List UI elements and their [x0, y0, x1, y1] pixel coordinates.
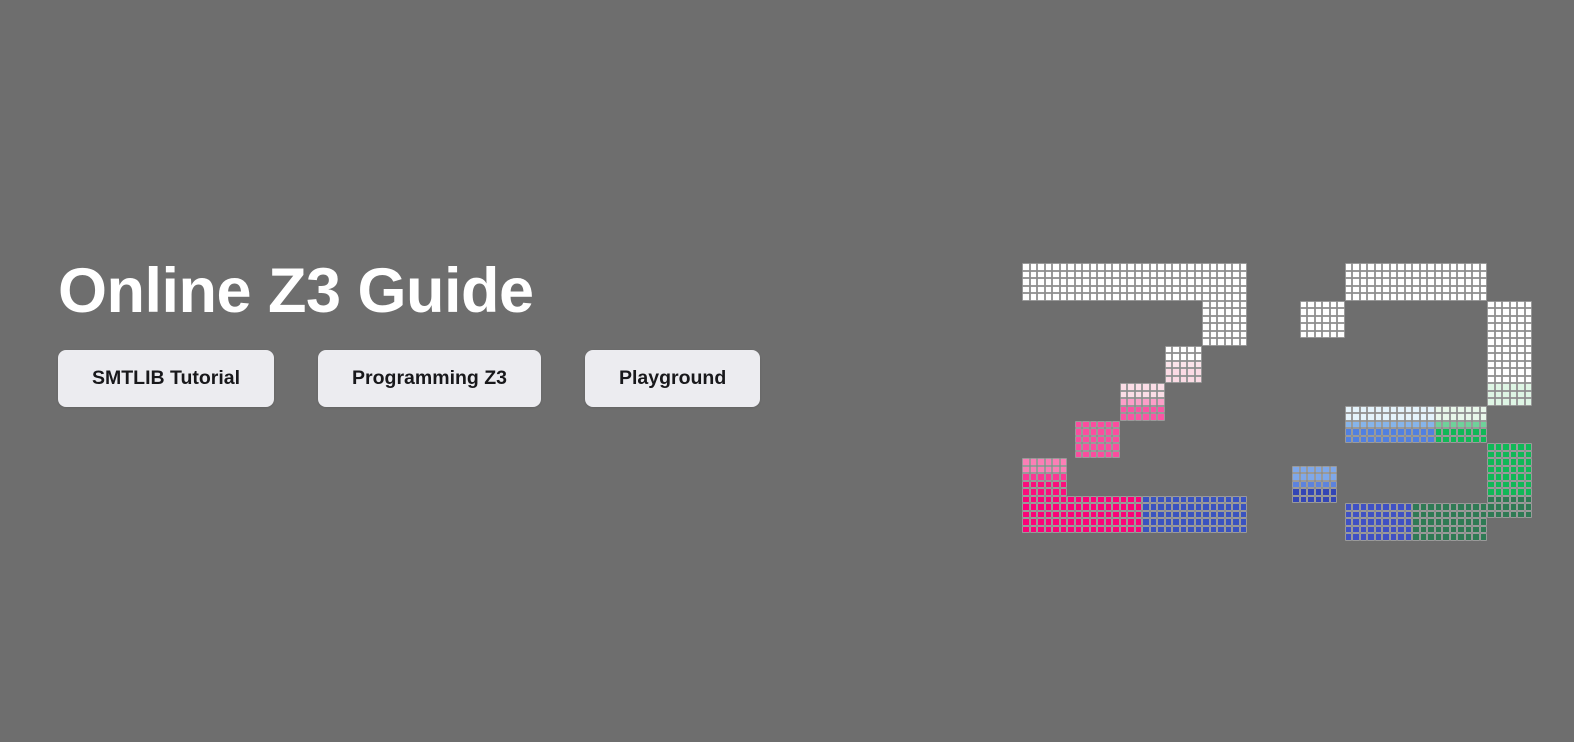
pixel-cell — [1345, 278, 1353, 286]
hero-text-block: Online Z3 Guide SMTLIB Tutorial Programm… — [58, 258, 958, 407]
pixel-cell — [1097, 428, 1105, 436]
pixel-cell — [1202, 503, 1210, 511]
pixel-cell — [1195, 361, 1203, 369]
pixel-cell — [1435, 293, 1443, 301]
pixel-cell — [1157, 383, 1165, 391]
pixel-cell — [1525, 481, 1533, 489]
pixel-cell — [1375, 271, 1383, 279]
pixel-cell — [1165, 286, 1173, 294]
pixel-cell — [1360, 511, 1368, 519]
pixel-cell — [1502, 496, 1510, 504]
pixel-cell — [1150, 511, 1158, 519]
pixel-cell — [1427, 428, 1435, 436]
pixel-cell — [1300, 308, 1308, 316]
pixel-cell — [1435, 286, 1443, 294]
pixel-cell — [1510, 398, 1518, 406]
pixel-cell — [1135, 496, 1143, 504]
pixel-cell — [1397, 436, 1405, 444]
pixel-cell — [1517, 353, 1525, 361]
pixel-cell — [1135, 271, 1143, 279]
pixel-cell — [1495, 458, 1503, 466]
pixel-cell — [1292, 481, 1300, 489]
pixel-cell — [1210, 526, 1218, 534]
pixel-cell — [1097, 263, 1105, 271]
pixel-cell — [1405, 428, 1413, 436]
pixel-cell — [1217, 496, 1225, 504]
pixel-cell — [1030, 503, 1038, 511]
pixel-cell — [1030, 286, 1038, 294]
pixel-cell — [1397, 413, 1405, 421]
pixel-cell — [1232, 286, 1240, 294]
pixel-cell — [1427, 436, 1435, 444]
pixel-cell — [1495, 443, 1503, 451]
pixel-cell — [1217, 316, 1225, 324]
pixel-cell — [1112, 278, 1120, 286]
pixel-cell — [1187, 518, 1195, 526]
pixel-cell — [1120, 511, 1128, 519]
pixel-cell — [1120, 263, 1128, 271]
pixel-cell — [1495, 511, 1503, 519]
pixel-cell — [1495, 496, 1503, 504]
pixel-cell — [1367, 263, 1375, 271]
pixel-cell — [1510, 383, 1518, 391]
pixel-cell — [1225, 496, 1233, 504]
pixel-cell — [1112, 526, 1120, 534]
pixel-cell — [1150, 391, 1158, 399]
pixel-cell — [1375, 263, 1383, 271]
pixel-cell — [1195, 496, 1203, 504]
pixel-cell — [1232, 331, 1240, 339]
pixel-cell — [1090, 526, 1098, 534]
pixel-cell — [1525, 511, 1533, 519]
pixel-cell — [1180, 286, 1188, 294]
pixel-cell — [1052, 526, 1060, 534]
pixel-cell — [1082, 271, 1090, 279]
pixel-cell — [1345, 271, 1353, 279]
pixel-cell — [1390, 436, 1398, 444]
pixel-cell — [1412, 278, 1420, 286]
pixel-cell — [1120, 278, 1128, 286]
pixel-cell — [1105, 436, 1113, 444]
pixel-cell — [1390, 286, 1398, 294]
pixel-cell — [1442, 263, 1450, 271]
pixel-cell — [1210, 338, 1218, 346]
pixel-cell — [1300, 496, 1308, 504]
pixel-cell — [1307, 473, 1315, 481]
pixel-cell — [1045, 518, 1053, 526]
pixel-cell — [1525, 316, 1533, 324]
pixel-cell — [1060, 526, 1068, 534]
pixel-cell — [1112, 496, 1120, 504]
pixel-cell — [1420, 511, 1428, 519]
pixel-cell — [1442, 533, 1450, 541]
pixel-cell — [1150, 286, 1158, 294]
pixel-cell — [1142, 526, 1150, 534]
pixel-cell — [1315, 466, 1323, 474]
pixel-cell — [1292, 466, 1300, 474]
pixel-cell — [1345, 286, 1353, 294]
pixel-cell — [1217, 511, 1225, 519]
pixel-cell — [1172, 278, 1180, 286]
pixel-cell — [1405, 526, 1413, 534]
pixel-cell — [1435, 436, 1443, 444]
pixel-cell — [1165, 526, 1173, 534]
pixel-cell — [1525, 383, 1533, 391]
pixel-cell — [1450, 421, 1458, 429]
pixel-cell — [1450, 263, 1458, 271]
pixel-cell — [1427, 263, 1435, 271]
pixel-cell — [1322, 301, 1330, 309]
pixel-cell — [1352, 413, 1360, 421]
pixel-cell — [1172, 353, 1180, 361]
pixel-cell — [1232, 316, 1240, 324]
pixel-cell — [1397, 278, 1405, 286]
pixel-cell — [1495, 391, 1503, 399]
pixel-cell — [1037, 271, 1045, 279]
pixel-cell — [1217, 518, 1225, 526]
pixel-cell — [1112, 518, 1120, 526]
pixel-cell — [1210, 301, 1218, 309]
pixel-cell — [1315, 488, 1323, 496]
pixel-cell — [1112, 421, 1120, 429]
pixel-cell — [1525, 301, 1533, 309]
pixel-cell — [1382, 518, 1390, 526]
pixel-cell — [1450, 271, 1458, 279]
pixel-cell — [1240, 503, 1248, 511]
pixel-cell — [1030, 488, 1038, 496]
pixel-cell — [1322, 488, 1330, 496]
pixel-cell — [1502, 346, 1510, 354]
pixel-cell — [1240, 496, 1248, 504]
pixel-cell — [1487, 338, 1495, 346]
pixel-cell — [1330, 316, 1338, 324]
pixel-cell — [1480, 271, 1488, 279]
pixel-cell — [1345, 436, 1353, 444]
pixel-cell — [1502, 338, 1510, 346]
pixel-cell — [1037, 511, 1045, 519]
pixel-cell — [1510, 473, 1518, 481]
pixel-cell — [1135, 398, 1143, 406]
pixel-cell — [1187, 353, 1195, 361]
pixel-cell — [1502, 391, 1510, 399]
pixel-cell — [1097, 286, 1105, 294]
pixel-cell — [1187, 503, 1195, 511]
pixel-cell — [1232, 263, 1240, 271]
pixel-cell — [1030, 278, 1038, 286]
pixel-cell — [1502, 301, 1510, 309]
pixel-cell — [1375, 511, 1383, 519]
pixel-cell — [1195, 353, 1203, 361]
pixel-cell — [1210, 286, 1218, 294]
pixel-cell — [1465, 503, 1473, 511]
pixel-cell — [1150, 271, 1158, 279]
pixel-cell — [1502, 368, 1510, 376]
pixel-cell — [1052, 488, 1060, 496]
pixel-cell — [1037, 518, 1045, 526]
pixel-cell — [1352, 436, 1360, 444]
pixel-cell — [1465, 436, 1473, 444]
pixel-cell — [1510, 496, 1518, 504]
pixel-cell — [1232, 323, 1240, 331]
pixel-cell — [1495, 331, 1503, 339]
pixel-cell — [1097, 503, 1105, 511]
pixel-cell — [1517, 383, 1525, 391]
pixel-cell — [1427, 278, 1435, 286]
pixel-cell — [1135, 383, 1143, 391]
pixel-cell — [1187, 278, 1195, 286]
pixel-cell — [1097, 443, 1105, 451]
pixel-cell — [1367, 533, 1375, 541]
pixel-cell — [1172, 346, 1180, 354]
pixel-cell — [1465, 518, 1473, 526]
pixel-cell — [1495, 383, 1503, 391]
pixel-cell — [1487, 301, 1495, 309]
pixel-cell — [1232, 338, 1240, 346]
pixel-cell — [1442, 421, 1450, 429]
pixel-cell — [1405, 503, 1413, 511]
pixel-cell — [1495, 316, 1503, 324]
pixel-cell — [1075, 436, 1083, 444]
pixel-cell — [1045, 458, 1053, 466]
pixel-cell — [1367, 518, 1375, 526]
pixel-cell — [1352, 503, 1360, 511]
pixel-cell — [1352, 511, 1360, 519]
pixel-cell — [1480, 406, 1488, 414]
pixel-cell — [1322, 316, 1330, 324]
pixel-cell — [1457, 413, 1465, 421]
pixel-cell — [1045, 271, 1053, 279]
pixel-cell — [1090, 518, 1098, 526]
pixel-cell — [1030, 526, 1038, 534]
pixel-cell — [1480, 518, 1488, 526]
pixel-cell — [1150, 413, 1158, 421]
pixel-cell — [1495, 346, 1503, 354]
pixel-cell — [1420, 428, 1428, 436]
pixel-cell — [1487, 466, 1495, 474]
smtlib-tutorial-button[interactable]: SMTLIB Tutorial — [58, 350, 274, 406]
pixel-cell — [1135, 263, 1143, 271]
pixel-cell — [1217, 286, 1225, 294]
pixel-cell — [1172, 271, 1180, 279]
pixel-cell — [1075, 286, 1083, 294]
pixel-cell — [1090, 496, 1098, 504]
pixel-cell — [1337, 316, 1345, 324]
pixel-cell — [1240, 518, 1248, 526]
pixel-cell — [1075, 443, 1083, 451]
pixel-cell — [1037, 488, 1045, 496]
pixel-cell — [1120, 526, 1128, 534]
pixel-cell — [1142, 278, 1150, 286]
pixel-cell — [1427, 293, 1435, 301]
pixel-cell — [1397, 503, 1405, 511]
pixel-cell — [1345, 503, 1353, 511]
pixel-cell — [1172, 361, 1180, 369]
pixel-cell — [1360, 533, 1368, 541]
pixel-cell — [1307, 488, 1315, 496]
pixel-cell — [1510, 353, 1518, 361]
pixel-cell — [1105, 286, 1113, 294]
pixel-cell — [1165, 511, 1173, 519]
pixel-cell — [1517, 331, 1525, 339]
pixel-cell — [1382, 428, 1390, 436]
pixel-cell — [1217, 308, 1225, 316]
pixel-cell — [1180, 263, 1188, 271]
pixel-cell — [1172, 368, 1180, 376]
pixel-cell — [1390, 271, 1398, 279]
pixel-cell — [1060, 481, 1068, 489]
pixel-cell — [1195, 503, 1203, 511]
pixel-cell — [1517, 503, 1525, 511]
pixel-cell — [1090, 293, 1098, 301]
pixel-cell — [1135, 518, 1143, 526]
pixel-cell — [1217, 278, 1225, 286]
pixel-cell — [1502, 383, 1510, 391]
pixel-cell — [1315, 316, 1323, 324]
pixel-cell — [1187, 346, 1195, 354]
pixel-cell — [1330, 473, 1338, 481]
pixel-cell — [1480, 436, 1488, 444]
pixel-cell — [1450, 518, 1458, 526]
pixel-cell — [1150, 496, 1158, 504]
pixel-cell — [1060, 488, 1068, 496]
pixel-cell — [1142, 383, 1150, 391]
pixel-cell — [1495, 473, 1503, 481]
pixel-cell — [1390, 293, 1398, 301]
pixel-cell — [1150, 278, 1158, 286]
pixel-cell — [1135, 278, 1143, 286]
pixel-cell — [1502, 323, 1510, 331]
pixel-cell — [1375, 518, 1383, 526]
pixel-cell — [1337, 301, 1345, 309]
pixel-cell — [1150, 518, 1158, 526]
pixel-cell — [1090, 278, 1098, 286]
pixel-cell — [1225, 331, 1233, 339]
pixel-cell — [1127, 398, 1135, 406]
pixel-cell — [1510, 368, 1518, 376]
pixel-cell — [1435, 263, 1443, 271]
pixel-cell — [1202, 338, 1210, 346]
pixel-cell — [1120, 406, 1128, 414]
pixel-cell — [1450, 436, 1458, 444]
pixel-cell — [1225, 271, 1233, 279]
pixel-cell — [1292, 496, 1300, 504]
pixel-cell — [1112, 428, 1120, 436]
pixel-cell — [1180, 293, 1188, 301]
pixel-cell — [1292, 473, 1300, 481]
programming-z3-button[interactable]: Programming Z3 — [318, 350, 541, 406]
pixel-cell — [1090, 421, 1098, 429]
pixel-cell — [1097, 293, 1105, 301]
pixel-cell — [1202, 286, 1210, 294]
pixel-cell — [1232, 271, 1240, 279]
pixel-cell — [1127, 263, 1135, 271]
pixel-cell — [1397, 518, 1405, 526]
pixel-cell — [1045, 473, 1053, 481]
pixel-cell — [1457, 263, 1465, 271]
pixel-cell — [1037, 458, 1045, 466]
pixel-cell — [1105, 518, 1113, 526]
pixel-cell — [1450, 533, 1458, 541]
pixel-cell — [1202, 316, 1210, 324]
pixel-cell — [1382, 511, 1390, 519]
pixel-cell — [1217, 263, 1225, 271]
pixel-cell — [1105, 443, 1113, 451]
pixel-cell — [1360, 263, 1368, 271]
pixel-cell — [1210, 511, 1218, 519]
pixel-cell — [1382, 526, 1390, 534]
pixel-cell — [1195, 368, 1203, 376]
pixel-cell — [1030, 263, 1038, 271]
pixel-cell — [1412, 263, 1420, 271]
pixel-cell — [1502, 443, 1510, 451]
pixel-cell — [1240, 293, 1248, 301]
pixel-cell — [1022, 278, 1030, 286]
pixel-cell — [1105, 526, 1113, 534]
pixel-cell — [1412, 526, 1420, 534]
pixel-cell — [1390, 428, 1398, 436]
pixel-cell — [1472, 518, 1480, 526]
pixel-cell — [1367, 271, 1375, 279]
pixel-cell — [1427, 286, 1435, 294]
pixel-cell — [1022, 503, 1030, 511]
pixel-cell — [1030, 466, 1038, 474]
pixel-cell — [1480, 533, 1488, 541]
pixel-cell — [1412, 271, 1420, 279]
pixel-cell — [1502, 451, 1510, 459]
pixel-cell — [1390, 511, 1398, 519]
pixel-cell — [1390, 518, 1398, 526]
pixel-cell — [1165, 496, 1173, 504]
pixel-cell — [1045, 488, 1053, 496]
pixel-cell — [1045, 278, 1053, 286]
pixel-cell — [1052, 473, 1060, 481]
pixel-cell — [1487, 316, 1495, 324]
pixel-cell — [1217, 503, 1225, 511]
pixel-cell — [1210, 263, 1218, 271]
pixel-cell — [1412, 286, 1420, 294]
pixel-cell — [1022, 263, 1030, 271]
pixel-cell — [1397, 286, 1405, 294]
pixel-cell — [1135, 413, 1143, 421]
pixel-cell — [1075, 293, 1083, 301]
pixel-cell — [1105, 421, 1113, 429]
pixel-cell — [1187, 286, 1195, 294]
pixel-cell — [1345, 518, 1353, 526]
pixel-cell — [1405, 406, 1413, 414]
pixel-cell — [1060, 496, 1068, 504]
pixel-cell — [1525, 361, 1533, 369]
pixel-cell — [1510, 331, 1518, 339]
pixel-cell — [1442, 518, 1450, 526]
pixel-cell — [1360, 278, 1368, 286]
page-title: Online Z3 Guide — [58, 258, 958, 324]
pixel-cell — [1052, 293, 1060, 301]
pixel-cell — [1187, 511, 1195, 519]
pixel-cell — [1052, 278, 1060, 286]
pixel-cell — [1225, 316, 1233, 324]
pixel-cell — [1510, 308, 1518, 316]
pixel-cell — [1510, 338, 1518, 346]
pixel-cell — [1457, 428, 1465, 436]
pixel-cell — [1112, 443, 1120, 451]
pixel-cell — [1135, 391, 1143, 399]
playground-button[interactable]: Playground — [585, 350, 760, 406]
pixel-cell — [1022, 488, 1030, 496]
pixel-cell — [1495, 503, 1503, 511]
pixel-cell — [1465, 511, 1473, 519]
pixel-cell — [1135, 526, 1143, 534]
pixel-cell — [1405, 293, 1413, 301]
